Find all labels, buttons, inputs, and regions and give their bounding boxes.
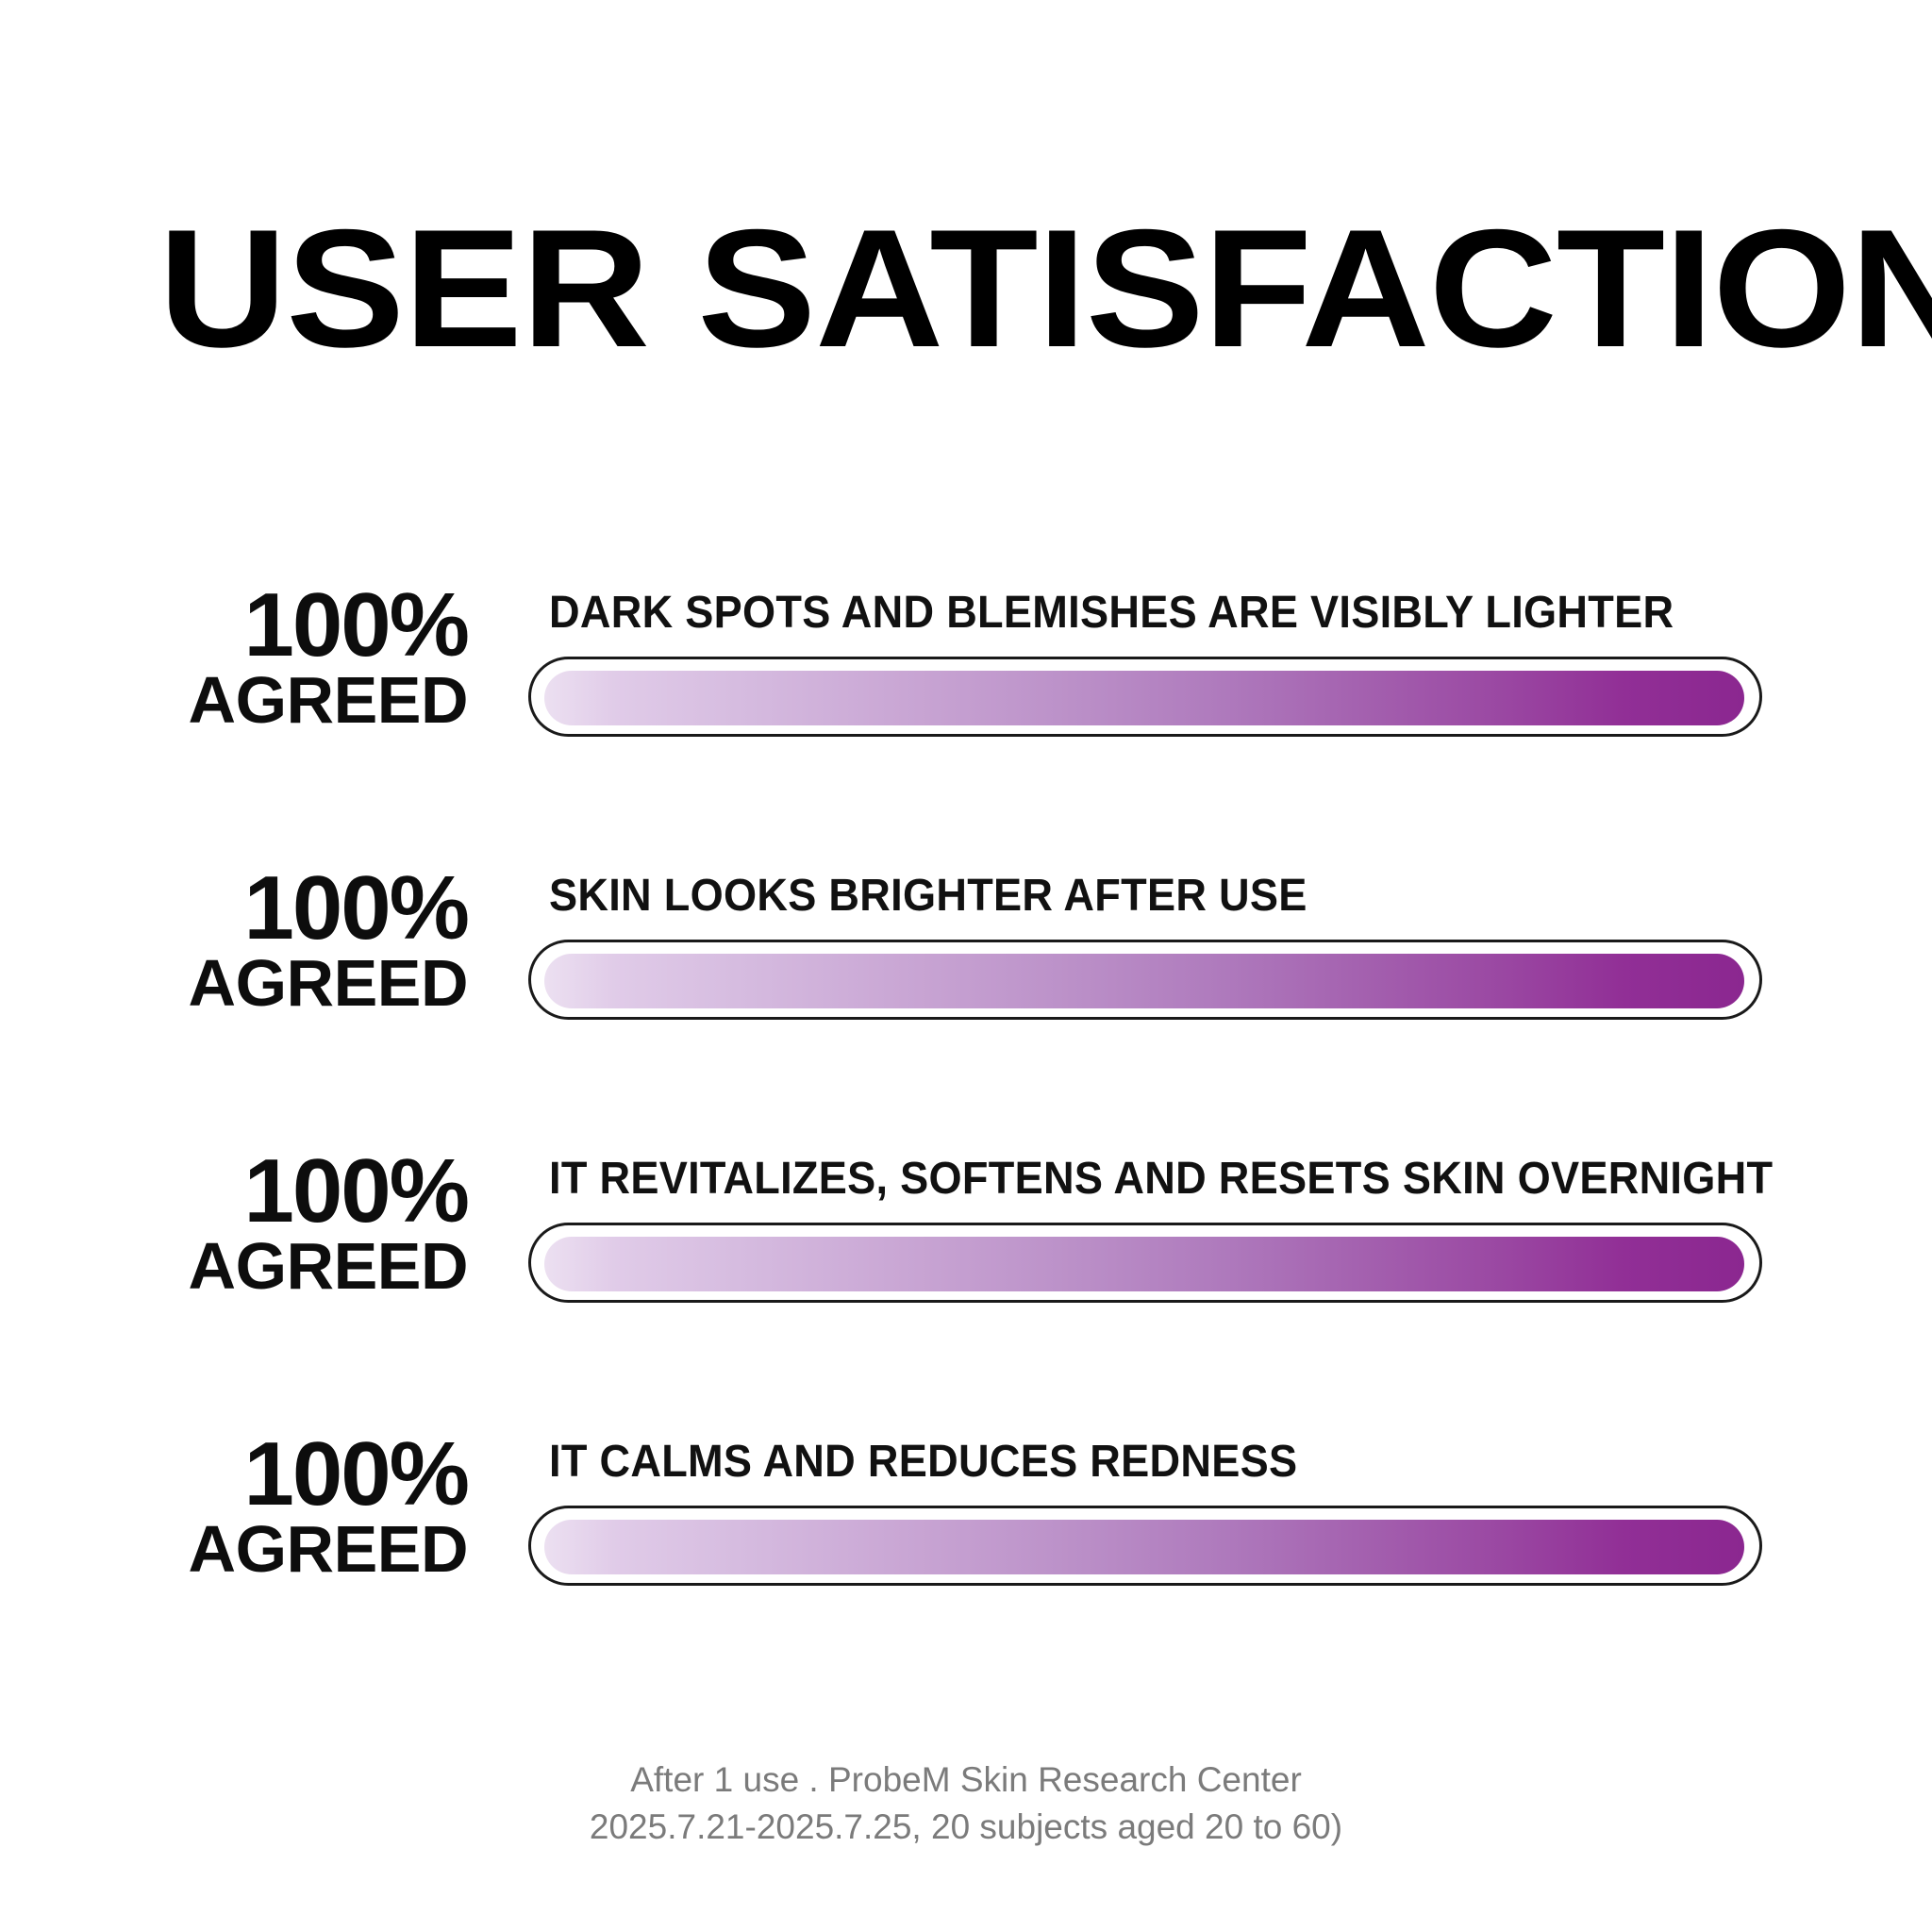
progress-bar-fill bbox=[544, 954, 1744, 1008]
satisfaction-row: 100% AGREED SKIN LOOKS BRIGHTER AFTER US… bbox=[0, 860, 1932, 1049]
agreed-label: AGREED bbox=[132, 1232, 468, 1300]
progress-bar-track bbox=[528, 940, 1762, 1020]
statement-text: IT CALMS AND REDUCES REDNESS bbox=[549, 1436, 1702, 1489]
percent-value: 100% bbox=[132, 585, 468, 666]
progress-bar-fill bbox=[544, 1520, 1744, 1574]
progress-bar-track bbox=[528, 1223, 1762, 1303]
statement-text: IT REVITALIZES, SOFTENS AND RESETS SKIN … bbox=[549, 1153, 1702, 1206]
satisfaction-row: 100% AGREED DARK SPOTS AND BLEMISHES ARE… bbox=[0, 577, 1932, 766]
percent-block: 100% AGREED bbox=[132, 868, 468, 1017]
agreed-label: AGREED bbox=[132, 666, 468, 734]
satisfaction-row: 100% AGREED IT CALMS AND REDUCES REDNESS bbox=[0, 1426, 1932, 1615]
satisfaction-row: 100% AGREED IT REVITALIZES, SOFTENS AND … bbox=[0, 1143, 1932, 1332]
percent-block: 100% AGREED bbox=[132, 1434, 468, 1583]
footer-line-2: 2025.7.21-2025.7.25, 20 subjects aged 20… bbox=[0, 1804, 1932, 1851]
progress-bar-track bbox=[528, 657, 1762, 737]
infographic-page: USER SATISFACTION 100% AGREED DARK SPOTS… bbox=[0, 0, 1932, 1931]
progress-bar-fill bbox=[544, 1237, 1744, 1291]
footer-note: After 1 use . ProbeM Skin Research Cente… bbox=[0, 1756, 1932, 1851]
progress-bar-track bbox=[528, 1506, 1762, 1586]
agreed-label: AGREED bbox=[132, 1515, 468, 1583]
satisfaction-rows: 100% AGREED DARK SPOTS AND BLEMISHES ARE… bbox=[0, 0, 1932, 1931]
statement-text: DARK SPOTS AND BLEMISHES ARE VISIBLY LIG… bbox=[549, 587, 1702, 640]
percent-block: 100% AGREED bbox=[132, 1151, 468, 1300]
statement-text: SKIN LOOKS BRIGHTER AFTER USE bbox=[549, 870, 1702, 923]
agreed-label: AGREED bbox=[132, 949, 468, 1017]
percent-block: 100% AGREED bbox=[132, 585, 468, 734]
footer-line-1: After 1 use . ProbeM Skin Research Cente… bbox=[0, 1756, 1932, 1804]
percent-value: 100% bbox=[132, 1151, 468, 1232]
progress-bar-fill bbox=[544, 671, 1744, 725]
percent-value: 100% bbox=[132, 1434, 468, 1515]
percent-value: 100% bbox=[132, 868, 468, 949]
